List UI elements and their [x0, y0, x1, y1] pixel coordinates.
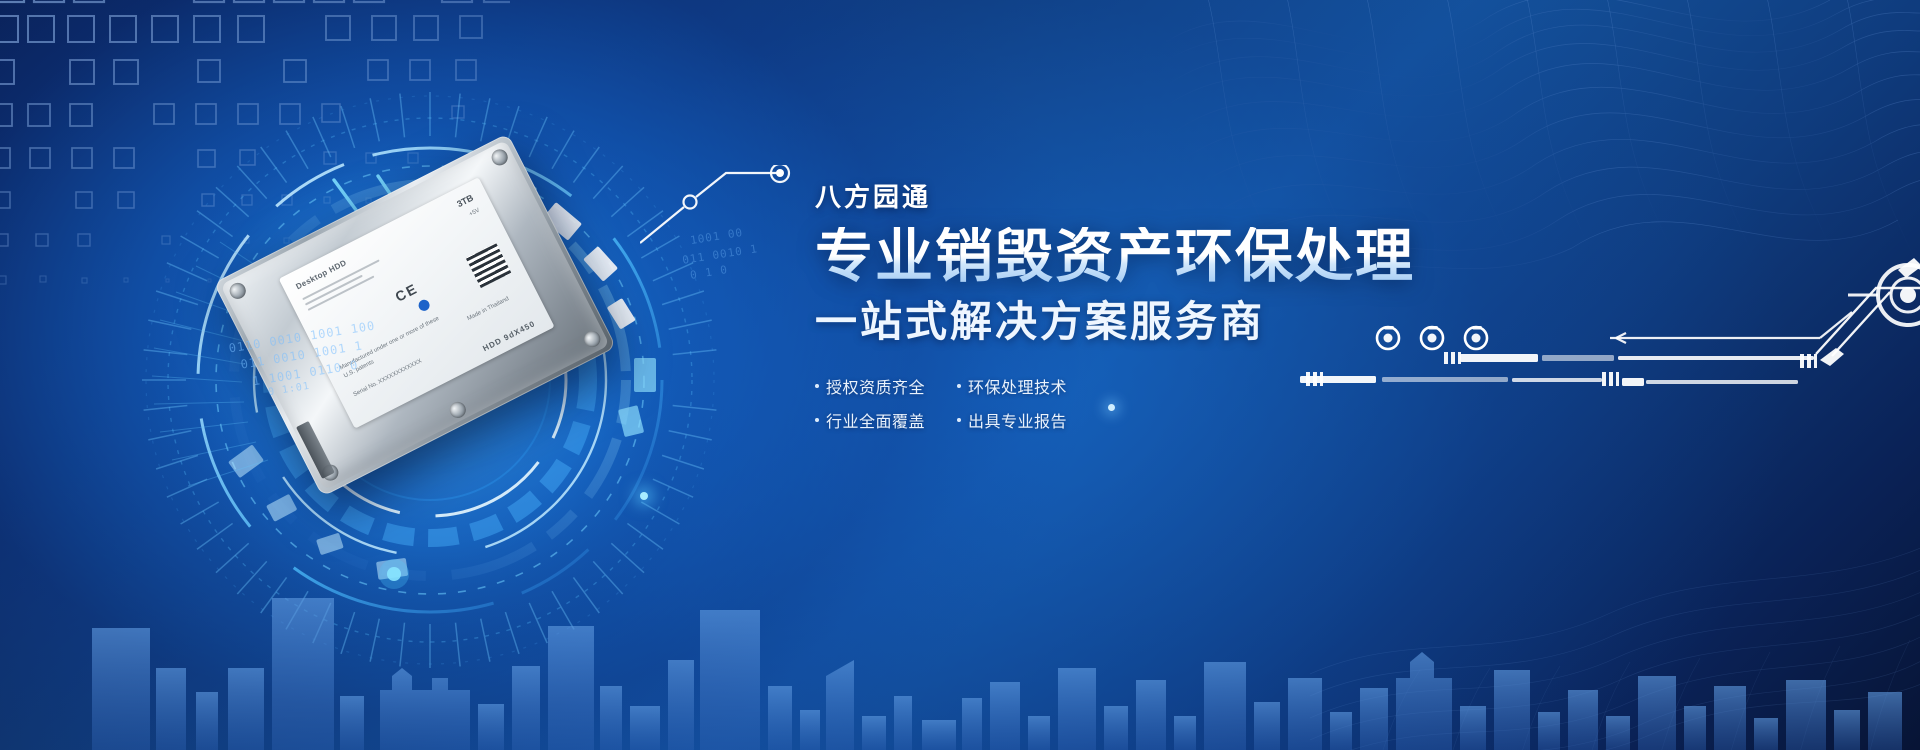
city-skyline-silhouette	[0, 520, 1920, 750]
feature-bullet-list: 授权资质齐全 环保处理技术 行业全面覆盖 出具专业报告	[815, 374, 1515, 432]
feature-bullet: 出具专业报告	[957, 408, 1093, 432]
subheadline: 一站式解决方案服务商	[815, 299, 1515, 345]
binary-right-1: 1001 00	[689, 226, 744, 247]
bullet-dot-icon	[957, 384, 961, 388]
promo-banner: Desktop HDD 3TB +5V CE Manufactured unde…	[0, 0, 1920, 750]
feature-bullet-label: 行业全面覆盖	[826, 408, 925, 432]
feature-bullet-label: 授权资质齐全	[826, 374, 925, 398]
bullet-dot-icon	[815, 384, 819, 388]
headline: 专业销毁资产环保处理	[815, 227, 1515, 287]
feature-bullet: 行业全面覆盖	[815, 408, 951, 432]
circuit-hub-circle	[1842, 235, 1920, 355]
circuit-corner-right	[1806, 230, 1920, 360]
banner-copy-block: 八方园通 专业销毁资产环保处理 一站式解决方案服务商 授权资质齐全 环保处理技术…	[815, 184, 1515, 432]
binary-right-3: 0 1 0	[689, 263, 729, 282]
bullet-dot-icon	[957, 418, 961, 422]
bullet-dot-icon	[815, 418, 819, 422]
feature-bullet: 环保处理技术	[957, 374, 1093, 398]
brand-name: 八方园通	[815, 184, 1515, 210]
wireframe-mesh-bottom-right	[1310, 490, 1920, 750]
feature-bullet-label: 环保处理技术	[968, 374, 1067, 398]
feature-bullet-label: 出具专业报告	[968, 408, 1067, 432]
binary-right-2: 011 0010 1	[681, 242, 758, 267]
feature-bullet: 授权资质齐全	[815, 374, 951, 398]
spark-dot-1	[640, 492, 648, 500]
hdd-glow-halo	[214, 165, 616, 465]
